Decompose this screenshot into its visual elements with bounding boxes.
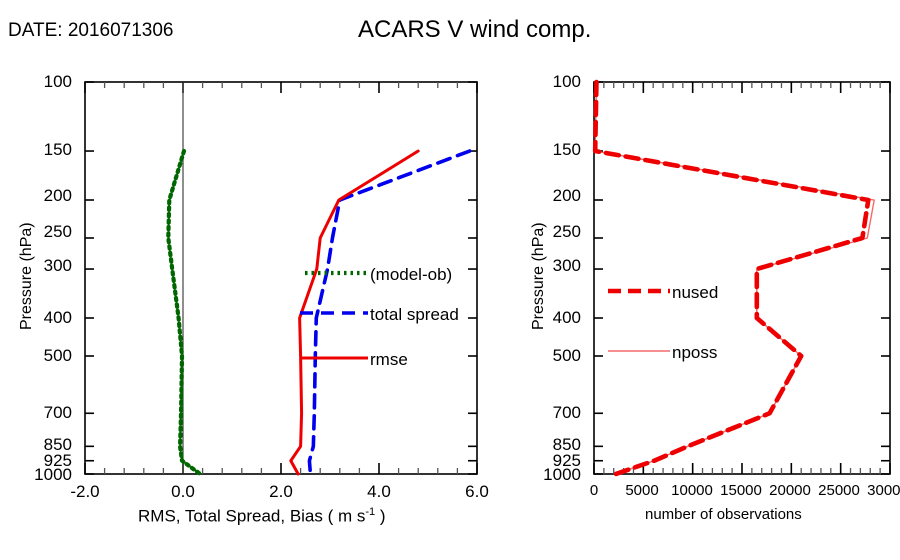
right-series-nused <box>595 82 868 474</box>
left-series--model-ob- <box>168 151 200 474</box>
right-axes-frame <box>594 82 890 474</box>
left-axes-frame <box>85 82 477 474</box>
right-series-nposs <box>595 82 874 474</box>
plot-svg <box>0 0 900 560</box>
chart-canvas: DATE: 2016071306 ACARS V wind comp. Pres… <box>0 0 900 560</box>
